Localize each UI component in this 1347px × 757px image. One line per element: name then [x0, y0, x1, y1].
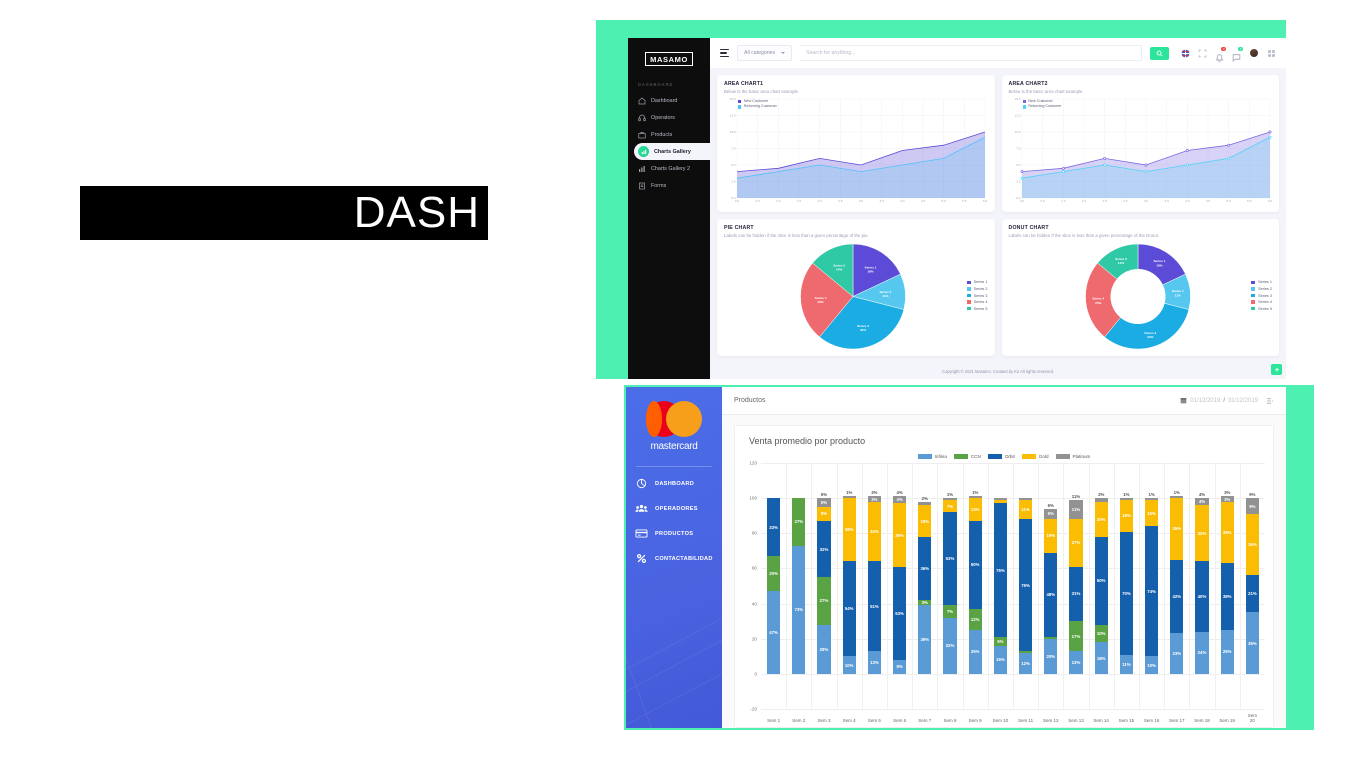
top-sidebar: MASAMO DASHBOARD Dashboard Operators Pro…	[628, 38, 710, 379]
mastercard-logo: mastercard	[626, 387, 722, 458]
area-chart-2-plot: New Customer Returning Customer 0.02.55.…	[1009, 97, 1273, 206]
card-title: DONUT CHART	[1009, 225, 1273, 231]
svg-text:7.5: 7.5	[731, 147, 736, 151]
chevron-down-icon	[781, 52, 785, 54]
masamo-logo: MASAMO	[645, 52, 693, 66]
sidebar-item-charts-gallery[interactable]: Charts Gallery	[634, 143, 710, 160]
bar-column[interactable]: 25%38%35%3%3%	[1221, 496, 1234, 673]
card-donut-chart: DONUT CHART Labels can be hidden if the …	[1002, 219, 1280, 356]
mastercard-wordmark: mastercard	[650, 441, 697, 452]
vertical-gridline	[862, 463, 863, 709]
svg-text:2.5: 2.5	[838, 199, 843, 203]
bar-segment: 53%	[893, 567, 906, 660]
credit-card-icon	[635, 528, 648, 539]
bar-segment: 27%	[792, 498, 805, 545]
bar-value-label: 54%	[845, 606, 854, 611]
bar-legend: InfiniaCCNOrbitGoldPlatinum	[741, 454, 1267, 459]
legend-item[interactable]: Gold	[1022, 454, 1049, 459]
screenshot-page: DASH MASAMO DASHBOARD Dashboard Operator…	[0, 0, 1347, 757]
bar-value-label: 9%	[1249, 504, 1255, 509]
svg-text:1.5: 1.5	[1081, 199, 1086, 203]
bar-total-label: 2%	[918, 496, 931, 501]
bar-segment: 38%	[1221, 563, 1234, 630]
bar-value-label: 50%	[971, 562, 980, 567]
bar-segment: 12%	[969, 609, 982, 630]
bar-segment: 5%	[994, 637, 1007, 646]
bar-value-label: 48%	[1046, 592, 1055, 597]
bar-segment: 20%	[767, 556, 780, 591]
legend-label: Infinia	[935, 454, 947, 459]
bar-segment: 53%	[943, 512, 956, 605]
bar-value-label: 35%	[1172, 526, 1181, 531]
sidebar-divider	[636, 466, 712, 467]
bar-segment: 4%	[893, 496, 906, 503]
bar-value-label: 10%	[1147, 663, 1156, 668]
bar-column[interactable]: 13%51%34%3%3%	[868, 496, 881, 673]
sidebar-section-label: DASHBOARD	[628, 78, 710, 92]
mastercard-dashboard: mastercard DASHBOARD OPERADORES PRODUCTO…	[626, 387, 1286, 728]
language-globe-icon[interactable]	[1181, 49, 1190, 58]
bar-column[interactable]: 32%7%53%7%1%	[943, 498, 956, 674]
date-from: 01/12/2019	[1190, 398, 1220, 404]
legend-item: Returning Customer	[1023, 104, 1062, 109]
bar-total-label: 3%	[868, 490, 881, 495]
x-tick-label: Sem 3	[817, 718, 830, 723]
bar-column[interactable]: 11%70%18%1%	[1120, 498, 1133, 674]
y-tick-label: 60	[752, 566, 757, 571]
card-subtitle: Below is the basic area chart example.	[724, 89, 988, 94]
bar-column[interactable]: 24%40%32%4%4%	[1195, 498, 1208, 674]
x-tick-label: Sem 8	[943, 718, 956, 723]
svg-text:2.5: 2.5	[1123, 199, 1128, 203]
top-main: All categories Search for anything... 3	[710, 38, 1286, 379]
bar-total-label: 1%	[969, 490, 982, 495]
bar-value-label: 32%	[946, 643, 955, 648]
bar-value-label: 33%	[769, 525, 778, 530]
svg-text:1.0: 1.0	[1061, 199, 1066, 203]
sidebar-item-forms[interactable]: Forms	[628, 177, 710, 194]
bar-segment: 17%	[1069, 621, 1082, 651]
bar-value-label: 27%	[1072, 540, 1081, 545]
bar-segment: 31%	[1069, 567, 1082, 621]
bar-column[interactable]: 8%53%36%4%4%	[893, 496, 906, 673]
category-select-value: All categories	[744, 50, 775, 56]
bar-segment: 35%	[1246, 612, 1259, 674]
bar-segment: 4%	[1195, 498, 1208, 505]
bar-value-label: 5%	[821, 500, 827, 505]
vertical-gridline	[1240, 463, 1241, 709]
card-pie-chart: PIE CHART Labels can be hidden if the sl…	[717, 219, 995, 356]
vertical-gridline	[1063, 463, 1064, 709]
search-icon	[1156, 50, 1163, 57]
bar-segment: 76%	[994, 503, 1007, 637]
svg-text:14%: 14%	[1117, 261, 1123, 265]
bar-segment: 10%	[1095, 625, 1108, 643]
bar-segment	[994, 500, 1007, 504]
bar-total-label: 1%	[943, 492, 956, 497]
message-icon-wrap[interactable]: 5	[1232, 49, 1241, 58]
mastercard-overlap	[646, 401, 662, 437]
y-tick-label: 100	[749, 496, 757, 501]
bar-segment: 32%	[943, 618, 956, 674]
bar-segment: 28%	[817, 625, 830, 674]
bottom-header: Productos 01/12/2019 / 31/12/2019	[722, 387, 1286, 415]
legend-item[interactable]: Infinia	[918, 454, 947, 459]
bar-segment: 25%	[969, 630, 982, 674]
pie-chart-plot: Series 118%Series 211%Series 332%Series …	[724, 241, 988, 350]
message-badge: 5	[1238, 47, 1243, 52]
bell-icon-wrap[interactable]: 3	[1215, 49, 1224, 58]
svg-text:3.5: 3.5	[880, 199, 885, 203]
sidebar-item-contactabilidad[interactable]: CONTACTABILIDAD	[626, 546, 722, 571]
svg-text:15.0: 15.0	[1014, 97, 1020, 101]
bar-value-label: 51%	[870, 604, 879, 609]
bar-column[interactable]: 23%42%35%1%	[1170, 496, 1183, 673]
bar-segment	[1019, 651, 1032, 653]
card-subtitle: Labels can be hidden if the slice is les…	[724, 233, 988, 238]
bar-column[interactable]: 12%75%11%	[1019, 498, 1032, 674]
svg-text:10.0: 10.0	[729, 130, 735, 134]
card-subtitle: Below is the basic area chart example.	[1009, 89, 1273, 94]
bar-column[interactable]: 13%17%31%27%11%11%	[1069, 500, 1082, 674]
svg-text:0.5: 0.5	[756, 199, 761, 203]
bar-total-label: 3%	[1221, 490, 1234, 495]
sidebar-item-productos[interactable]: PRODUCTOS	[626, 521, 722, 546]
bar-value-label: 39%	[920, 637, 929, 642]
bar-value-label: 53%	[946, 556, 955, 561]
bar-value-label: 11%	[1021, 507, 1029, 512]
y-tick-label: 120	[749, 461, 757, 466]
bar-value-label: 13%	[971, 507, 980, 512]
vertical-gridline	[887, 463, 888, 709]
bar-value-label: 47%	[769, 630, 778, 635]
bar-value-label: 8%	[821, 511, 827, 516]
x-tick-label: Sem 18	[1194, 718, 1210, 723]
svg-text:15.0: 15.0	[729, 97, 735, 101]
bar-segment: 73%	[792, 546, 805, 674]
bar-segment: 25%	[1221, 630, 1234, 674]
legend-swatch	[738, 105, 741, 108]
svg-text:25%: 25%	[1095, 301, 1101, 305]
bar-column[interactable]: 39%3%36%18%2%	[918, 502, 931, 674]
bar-column[interactable]: 10%74%15%1%	[1145, 498, 1158, 674]
bar-value-label: 5%	[997, 639, 1003, 644]
bar-segment: 11%	[1019, 500, 1032, 519]
svg-text:4.5: 4.5	[1205, 199, 1210, 203]
bar-value-label: 34%	[870, 529, 879, 534]
sidebar-item-label: Forms	[651, 183, 666, 189]
card-title: PIE CHART	[724, 225, 988, 231]
legend-label: Gold	[1039, 454, 1049, 459]
bar-segment: 9%	[1246, 498, 1259, 514]
svg-text:4.0: 4.0	[900, 199, 905, 203]
sidebar-item-operators[interactable]: Operators	[628, 109, 710, 126]
svg-text:0.0: 0.0	[1019, 199, 1024, 203]
bar-segment	[1044, 637, 1057, 639]
bar-value-label: 3%	[871, 497, 877, 502]
hamburger-icon[interactable]	[720, 49, 729, 57]
bar-value-label: 15%	[1147, 511, 1156, 516]
donut-host: Series 118%Series 211%Series 332%Series …	[1009, 241, 1246, 350]
bar-value-label: 18%	[1097, 656, 1106, 661]
message-icon	[1232, 53, 1241, 62]
bar-segment: 6%	[1044, 509, 1057, 520]
search-input[interactable]: Search for anything...	[800, 45, 1142, 61]
card-title: AREA CHART1	[724, 81, 988, 87]
users-icon	[635, 503, 648, 514]
bar-value-label: 12%	[1021, 661, 1030, 666]
bar-total-label: 2%	[1095, 492, 1108, 497]
bar-value-label: 20%	[1046, 654, 1055, 659]
masamo-dashboard: MASAMO DASHBOARD Dashboard Operators Pro…	[628, 38, 1286, 379]
mastercard-circles	[646, 401, 702, 437]
bar-value-label: 31%	[1072, 591, 1081, 596]
legend-item[interactable]: Orbit	[988, 454, 1015, 459]
card-title: AREA CHART2	[1009, 81, 1273, 87]
svg-text:0.5: 0.5	[1040, 199, 1045, 203]
svg-text:12.5: 12.5	[729, 114, 735, 118]
vertical-gridline	[811, 463, 812, 709]
svg-text:14%: 14%	[836, 268, 842, 272]
vertical-gridline	[963, 463, 964, 709]
bar-value-label: 25%	[1223, 649, 1232, 654]
bar-segment: 11%	[1120, 655, 1133, 674]
bar-segment: 3%	[1221, 496, 1234, 501]
legend-swatch	[1022, 454, 1036, 459]
bar-segment: 40%	[1195, 561, 1208, 631]
bar-segment: 3%	[868, 496, 881, 501]
bar-segment	[918, 502, 931, 506]
bar-value-label: 36%	[895, 533, 904, 538]
bar-column[interactable]: 25%12%50%13%1%	[969, 496, 982, 673]
breadcrumb: Productos	[734, 397, 1172, 404]
bar-segment: 50%	[969, 521, 982, 609]
bar-segment: 11%	[1069, 500, 1082, 519]
sidebar-item-label: Products	[651, 132, 672, 138]
bar-segment: 36%	[918, 537, 931, 600]
bar-value-label: 75%	[1021, 583, 1030, 588]
bar-value-label: 35%	[1223, 530, 1232, 535]
sidebar-item-operadores[interactable]: OPERADORES	[626, 496, 722, 521]
sidebar-item-label: PRODUCTOS	[655, 531, 693, 537]
area-chart-1-plot: New Customer Returning Customer 0.02.55.…	[724, 97, 988, 206]
bar-segment: 18%	[1120, 500, 1133, 532]
bar-value-label: 23%	[1172, 651, 1181, 656]
svg-text:5.0: 5.0	[1016, 163, 1021, 167]
bar-column[interactable]: 28%27%32%8%5%5%	[817, 498, 830, 674]
svg-text:32%: 32%	[860, 328, 866, 332]
sidebar-item-dashboard[interactable]: Dashboard	[628, 92, 710, 109]
bar-chart-card: Venta promedio por producto InfiniaCCNOr…	[734, 425, 1274, 728]
svg-text:11%: 11%	[1174, 293, 1180, 297]
vertical-gridline	[1189, 463, 1190, 709]
bar-segment: 8%	[893, 660, 906, 674]
legend-swatch	[738, 100, 741, 103]
bar-value-label: 40%	[1198, 594, 1207, 599]
briefcase-icon	[638, 131, 646, 139]
svg-text:0.0: 0.0	[735, 199, 740, 203]
category-select[interactable]: All categories	[737, 45, 792, 61]
bar-segment: 13%	[868, 651, 881, 674]
legend-swatch	[1023, 100, 1026, 103]
bar-chart-icon	[641, 149, 647, 155]
bar-value-label: 6%	[1048, 511, 1054, 516]
bar-column[interactable]: 35%21%35%9%9%	[1246, 498, 1259, 674]
bar-segment: 20%	[1095, 502, 1108, 537]
sidebar-item-dashboard[interactable]: DASHBOARD	[626, 471, 722, 496]
x-tick-label: Sem 7	[918, 718, 931, 723]
vertical-gridline	[1038, 463, 1039, 709]
legend-label: Returning Customer	[1028, 104, 1061, 109]
bar-column[interactable]: 10%54%36%1%	[843, 496, 856, 673]
bar-column[interactable]: 47%20%33%	[767, 498, 780, 674]
calendar-icon	[1180, 397, 1187, 404]
legend-item: Returning Customer	[738, 104, 777, 109]
bar-value-label: 32%	[820, 547, 829, 552]
x-tick-label: Sem 15	[1119, 718, 1135, 723]
bar-value-label: 3%	[1224, 497, 1230, 502]
x-tick-label: Sem 19	[1219, 718, 1235, 723]
top-navbar: All categories Search for anything... 3	[710, 38, 1286, 68]
bar-value-label: 35%	[1248, 542, 1257, 547]
svg-text:32%: 32%	[1147, 335, 1153, 339]
svg-text:4.5: 4.5	[921, 199, 926, 203]
bar-value-label: 8%	[896, 664, 902, 669]
list-options-icon[interactable]	[1266, 397, 1274, 405]
bar-segment: 33%	[767, 498, 780, 556]
bar-segment: 50%	[1095, 537, 1108, 625]
svg-text:2.5: 2.5	[1016, 180, 1021, 184]
sidebar-item-label: Charts Gallery	[654, 149, 691, 155]
bar-value-label: 4%	[1199, 499, 1205, 504]
bar-value-label: 10%	[1097, 631, 1106, 636]
bar-total-label: 4%	[893, 490, 906, 495]
bar-value-label: 21%	[1248, 591, 1257, 596]
apps-grid-icon[interactable]	[1267, 49, 1276, 58]
bar-column[interactable]: 20%48%19%6%6%	[1044, 509, 1057, 674]
footer-copyright: Copyright © 2021 Masamo. Created by K2 A…	[710, 363, 1286, 379]
bar-segment: 32%	[1195, 505, 1208, 561]
bar-value-label: 7%	[947, 504, 953, 509]
sidebar-item-products[interactable]: Products	[628, 126, 710, 143]
navbar-icons: 3 5	[1181, 48, 1276, 58]
y-tick-label: 40	[752, 601, 757, 606]
bar-segment: 54%	[843, 561, 856, 656]
date-separator: /	[1223, 398, 1225, 404]
bar-value-label: 53%	[895, 611, 904, 616]
svg-text:5.5: 5.5	[1247, 199, 1252, 203]
svg-text:2.5: 2.5	[731, 180, 736, 184]
dash-title-block: DASH	[80, 186, 488, 240]
vertical-gridline	[1164, 463, 1165, 709]
x-tick-label: Sem 13	[1068, 718, 1084, 723]
legend-label: CCN	[971, 454, 981, 459]
svg-text:2.0: 2.0	[1102, 199, 1107, 203]
bar-value-label: 36%	[845, 527, 854, 532]
y-tick-label: -20	[750, 707, 757, 712]
bar-segment: 7%	[943, 605, 956, 617]
x-tick-label: Sem 12	[1043, 718, 1059, 723]
donut-chart-plot: Series 118%Series 211%Series 332%Series …	[1009, 241, 1273, 350]
bar-total-label: 1%	[843, 490, 856, 495]
x-tick-label: Sem 1	[767, 718, 780, 723]
bar-value-label: 19%	[1046, 533, 1055, 538]
bar-segment: 74%	[1145, 526, 1158, 656]
mastercard-yellow-circle	[666, 401, 702, 437]
sidebar-item-charts-gallery-2[interactable]: Charts Gallery 2	[628, 160, 710, 177]
bar-column[interactable]: 73%27%	[792, 498, 805, 674]
bar-segment: 75%	[1019, 519, 1032, 651]
bar-value-label: 38%	[1223, 594, 1232, 599]
x-tick-label: Sem 17	[1169, 718, 1185, 723]
bar-value-label: 20%	[769, 571, 778, 576]
vertical-gridline	[1013, 463, 1014, 709]
bar-segment: 5%	[817, 498, 830, 507]
search-button[interactable]	[1150, 47, 1169, 60]
x-tick-label: Sem 14	[1093, 718, 1109, 723]
bar-segment: 13%	[1069, 651, 1082, 674]
svg-text:25%: 25%	[817, 300, 823, 304]
bar-segment: 35%	[1221, 502, 1234, 564]
bar-column[interactable]: 16%5%76%	[994, 498, 1007, 674]
vertical-gridline	[988, 463, 989, 709]
avatar[interactable]	[1249, 48, 1259, 58]
bar-segment: 16%	[994, 646, 1007, 674]
legend-label: Orbit	[1005, 454, 1015, 459]
svg-text:11%: 11%	[882, 294, 888, 298]
bell-icon	[1215, 53, 1224, 62]
svg-text:18%: 18%	[1156, 263, 1162, 267]
bar-value-label: 50%	[1097, 578, 1106, 583]
bar-segment: 7%	[943, 500, 956, 512]
bar-value-label: 20%	[1097, 517, 1106, 522]
bar-segment: 32%	[817, 521, 830, 577]
y-axis-labels: -20020406080100120	[741, 463, 759, 709]
bottom-sidebar: mastercard DASHBOARD OPERADORES PRODUCTO…	[626, 387, 722, 728]
active-indicator	[638, 146, 649, 157]
bar-segment: 34%	[868, 502, 881, 562]
svg-text:4.0: 4.0	[1185, 199, 1190, 203]
card-subtitle: Labels can be hidden if the slice is les…	[1009, 233, 1273, 238]
legend-item[interactable]: CCN	[954, 454, 981, 459]
bar-value-label: 12%	[971, 617, 980, 622]
bar-segment: 18%	[918, 505, 931, 537]
bar-value-label: 16%	[996, 657, 1005, 662]
scroll-to-top-button[interactable]	[1271, 364, 1282, 375]
bar-segment: 47%	[767, 591, 780, 674]
bar-value-label: 4%	[896, 497, 902, 502]
date-range-picker[interactable]: 01/12/2019 / 31/12/2019	[1180, 397, 1258, 404]
x-tick-label: Sem 2	[792, 718, 805, 723]
sidebar-item-label: DASHBOARD	[655, 481, 694, 487]
bar-segment: 42%	[1170, 560, 1183, 634]
bar-chart-plot: -20020406080100120 47%20%33%73%27%28%27%…	[741, 463, 1267, 723]
bottom-main: Productos 01/12/2019 / 31/12/2019 Venta …	[722, 387, 1286, 728]
bar-value-label: 70%	[1122, 591, 1131, 596]
percent-icon	[635, 553, 648, 564]
svg-text:5.0: 5.0	[731, 163, 736, 167]
fullscreen-icon[interactable]	[1198, 49, 1207, 58]
bar-segment: 12%	[1019, 653, 1032, 674]
svg-text:1.0: 1.0	[776, 199, 781, 203]
bar-segment: 27%	[817, 577, 830, 624]
bar-column[interactable]: 18%10%50%20%2%	[1095, 498, 1108, 674]
card-row-area: AREA CHART1 Below is the basic area char…	[717, 75, 1279, 212]
vertical-gridline	[1089, 463, 1090, 709]
bar-segment: 20%	[1044, 639, 1057, 674]
legend-item[interactable]: Platinum	[1056, 454, 1091, 459]
svg-text:3.5: 3.5	[1164, 199, 1169, 203]
